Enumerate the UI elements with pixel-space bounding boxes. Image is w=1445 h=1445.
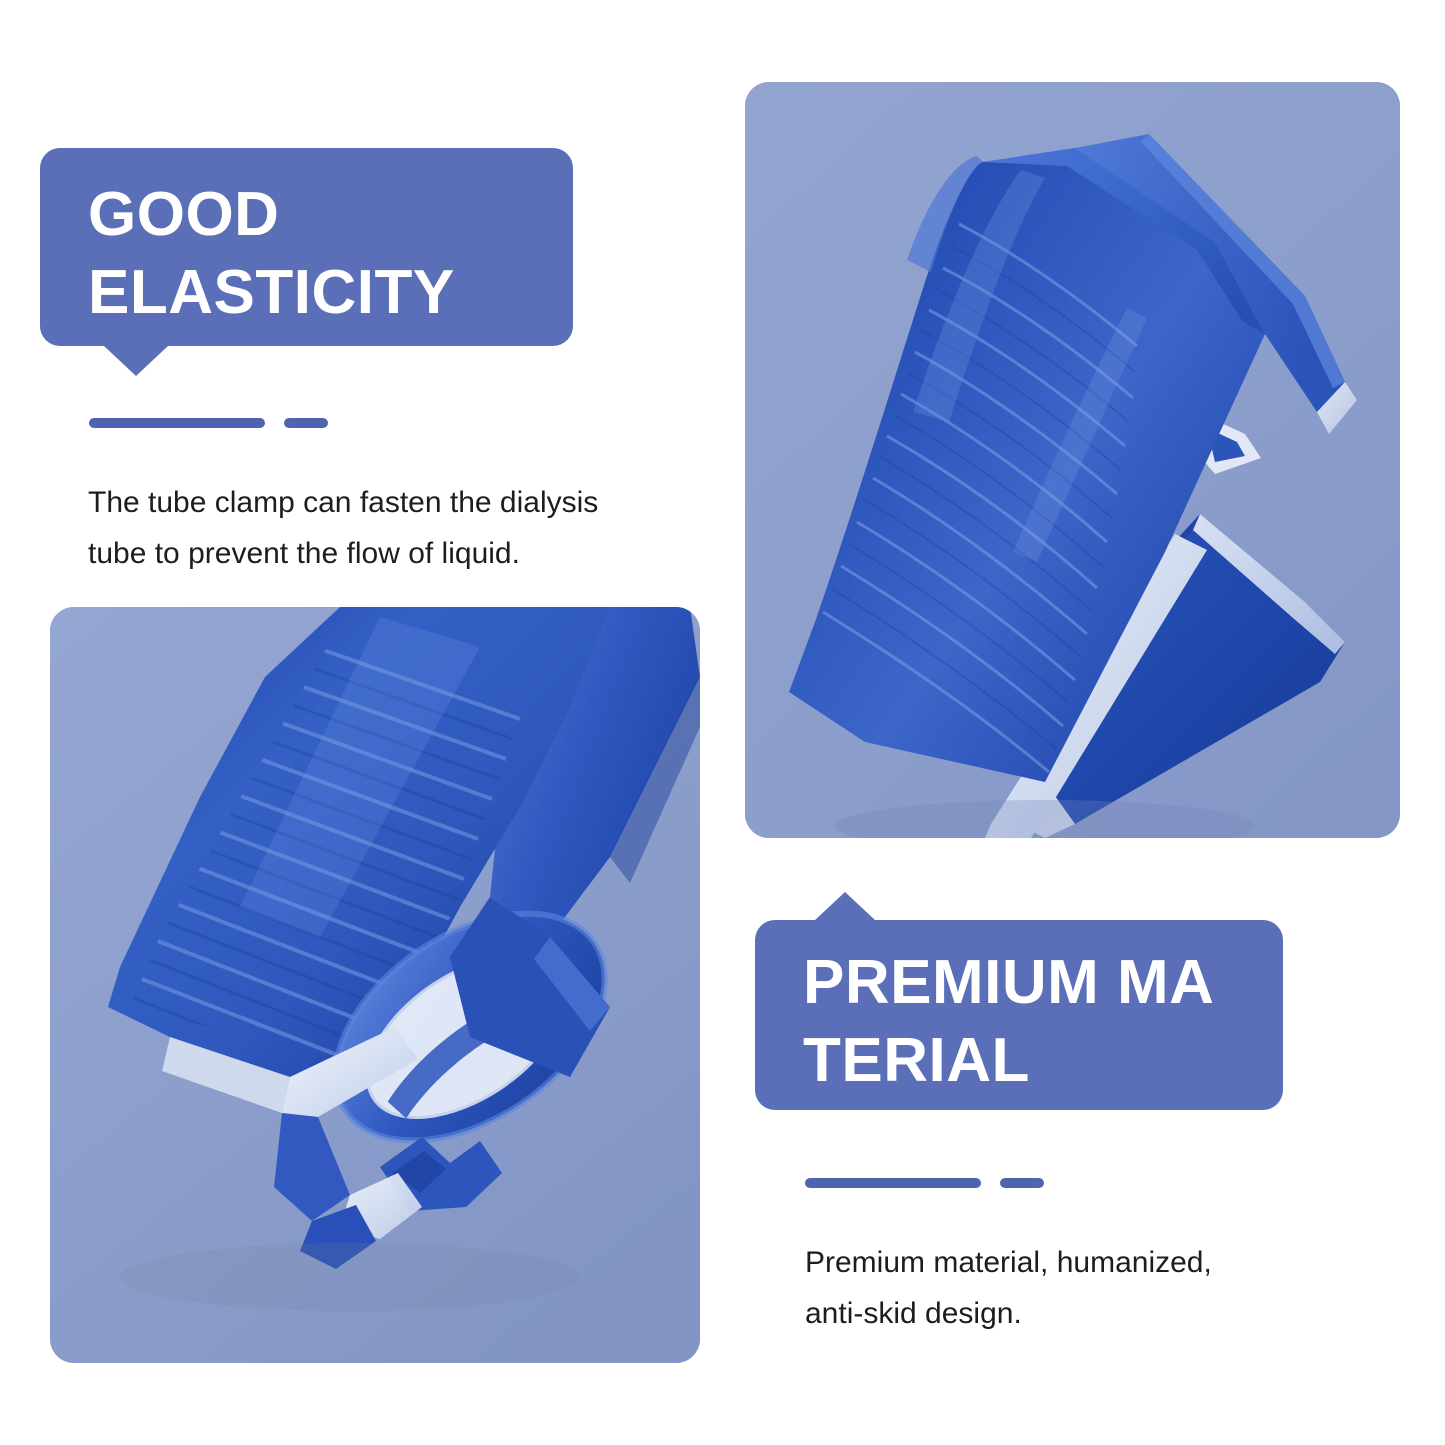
feature-description-premium-material: Premium material, humanized, anti-skid d… bbox=[805, 1237, 1365, 1339]
divider-premium-material bbox=[805, 1178, 1044, 1188]
callout-tail-up-icon bbox=[815, 892, 875, 920]
divider-bar-short bbox=[284, 418, 328, 428]
feature-badge-title: PREMIUM MA TERIAL bbox=[803, 944, 1283, 1100]
callout-tail-down-icon bbox=[104, 346, 168, 376]
feature-description-good-elasticity: The tube clamp can fasten the dialysis t… bbox=[88, 477, 648, 579]
feature-badge-good-elasticity: GOOD ELASTICITY bbox=[40, 148, 573, 346]
divider-bar-long bbox=[805, 1178, 981, 1188]
feature-badge-premium-material: PREMIUM MA TERIAL bbox=[755, 920, 1283, 1110]
product-photo-clamp-latch-detail bbox=[50, 607, 700, 1363]
divider-bar-short bbox=[1000, 1178, 1044, 1188]
product-photo-clamp-open-jaw bbox=[745, 82, 1400, 838]
divider-bar-long bbox=[89, 418, 265, 428]
divider-good-elasticity bbox=[89, 418, 328, 428]
feature-badge-title: GOOD ELASTICITY bbox=[88, 176, 573, 332]
